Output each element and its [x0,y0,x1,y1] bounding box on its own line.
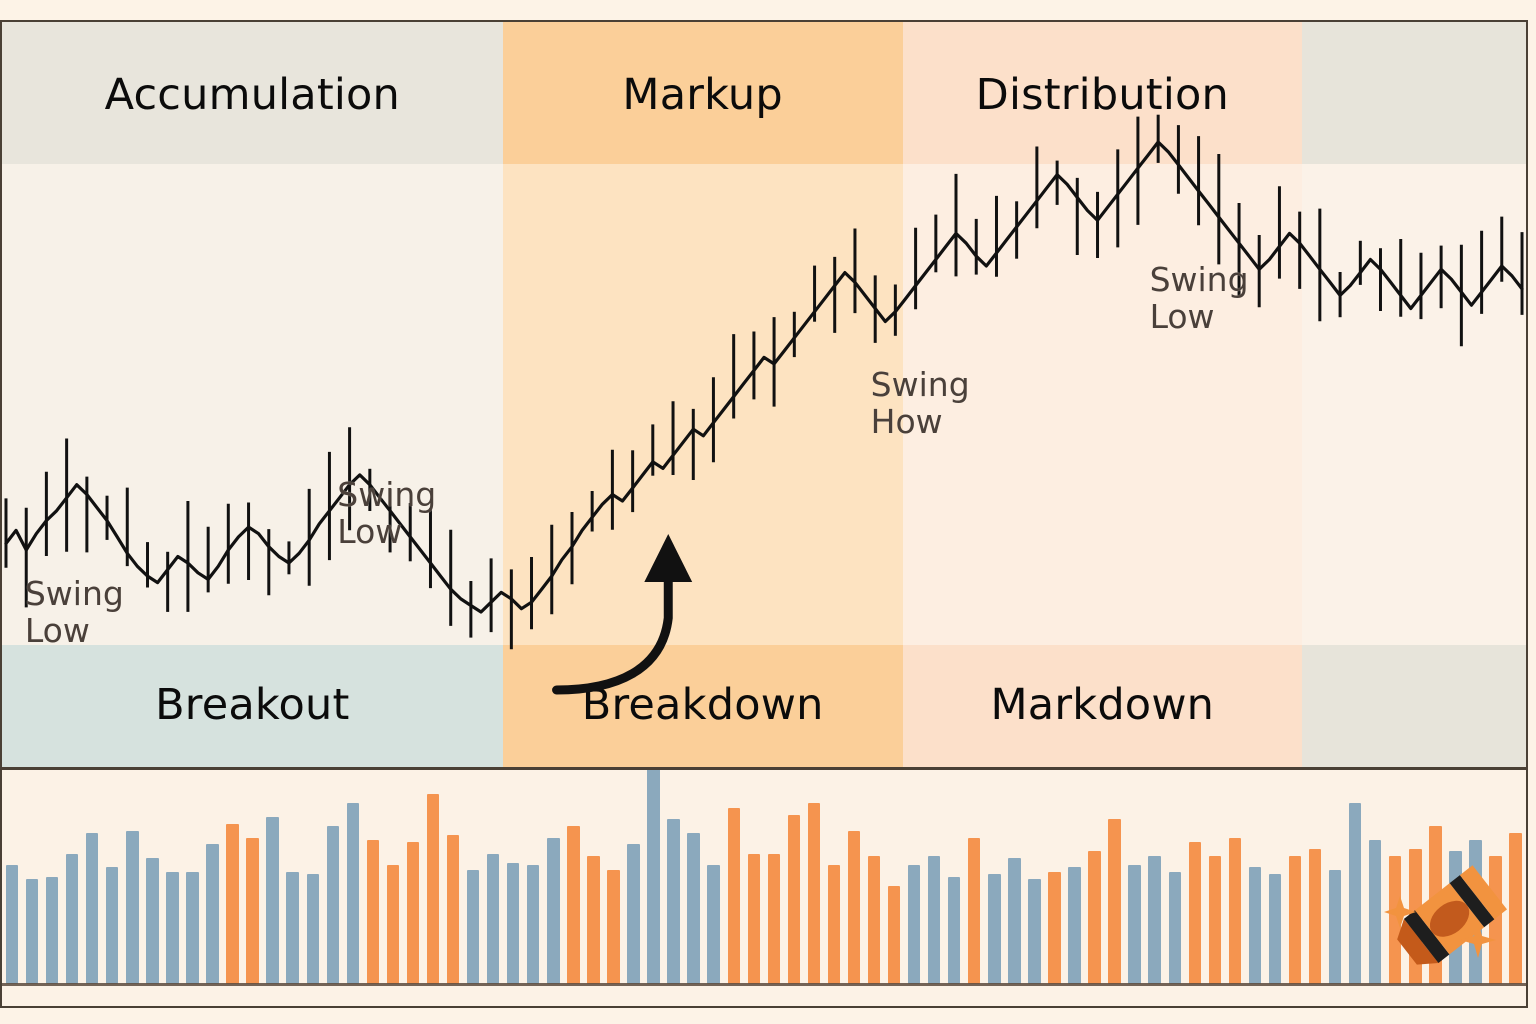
volume-slot [623,770,643,984]
volume-slot [102,770,122,984]
volume-panel [2,770,1526,1006]
volume-bar [367,840,379,984]
volume-slot [1145,770,1165,984]
volume-slot [984,770,1004,984]
volume-bar [908,865,920,984]
volume-bar [46,877,58,985]
volume-bar [146,858,158,984]
volume-bar [948,877,960,985]
volume-bar [266,817,278,984]
phase-top-band: Distribution [903,22,1302,164]
phase-bottom-band: Breakout [2,645,503,767]
phase-top-band: Accumulation [2,22,503,164]
volume-slot [1365,770,1385,984]
volume-slot [263,770,283,984]
swing-low-right: Swing Low [1150,262,1249,336]
volume-slot [1064,770,1084,984]
volume-slot [603,770,623,984]
volume-baseline [2,983,1526,986]
volume-bar [788,815,800,984]
volume-bar [1108,819,1120,984]
volume-slot [122,770,142,984]
volume-slot [1305,770,1325,984]
volume-slot [1445,770,1465,984]
volume-slot [22,770,42,984]
volume-bar [748,854,760,984]
volume-slot [463,770,483,984]
volume-slot [1506,770,1526,984]
volume-slot [1265,770,1285,984]
volume-slot [423,770,443,984]
volume-bar [768,854,780,984]
volume-slot [1245,770,1265,984]
volume-slot [1425,770,1445,984]
volume-bar [186,872,198,984]
phase-bottom-band: Breakdown [503,645,903,767]
volume-bar [487,854,499,984]
volume-slot [704,770,724,984]
volume-bar [1349,803,1361,984]
volume-bar [1148,856,1160,984]
volume-slot [543,770,563,984]
volume-bar [1048,872,1060,984]
volume-slot [323,770,343,984]
phase-bottom-band [1302,645,1526,767]
phase-bottom-label: Breakdown [503,680,903,730]
volume-bar [467,870,479,984]
phase-column: AccumulationBreakout [2,22,503,767]
volume-slot [443,770,463,984]
volume-slot [1325,770,1345,984]
volume-slot [483,770,503,984]
chart-frame: AccumulationBreakoutMarkupBreakdownDistr… [0,20,1528,1008]
volume-slot [804,770,824,984]
phase-mid-band [1302,164,1526,645]
volume-bar [106,867,118,984]
phase-top-label: Distribution [903,70,1302,120]
volume-bar [286,872,298,984]
volume-bar [647,770,659,984]
swing-low-left: Swing Low [25,576,124,650]
volume-bar [627,844,639,984]
volume-slot [1405,770,1425,984]
volume-slot [62,770,82,984]
volume-bar [888,886,900,984]
volume-bar [427,794,439,984]
volume-slot [1044,770,1064,984]
volume-bar [327,826,339,984]
volume-bar [126,831,138,984]
phase-bottom-label: Breakout [2,680,503,730]
volume-slot [1125,770,1145,984]
volume-bar [547,838,559,984]
volume-bar [1449,851,1461,984]
volume-slot [503,770,523,984]
volume-bar [507,863,519,984]
volume-bar [868,856,880,984]
phase-column [1302,22,1526,767]
volume-bar [607,870,619,984]
volume-slot [964,770,984,984]
volume-bar [527,865,539,984]
volume-slot [684,770,704,984]
phase-top-label: Accumulation [2,70,503,120]
volume-bar [1429,826,1441,984]
phase-top-band [1302,22,1526,164]
volume-slot [1465,770,1485,984]
volume-bar [246,838,258,984]
volume-slot [1205,770,1225,984]
volume-bar [928,856,940,984]
volume-slot [202,770,222,984]
swing-high-mid: Swing How [871,367,970,441]
volume-slot [343,770,363,984]
phase-top-band: Markup [503,22,903,164]
volume-slot [403,770,423,984]
volume-slot [1385,770,1405,984]
volume-slot [664,770,684,984]
volume-bar [1329,870,1341,984]
volume-slot [182,770,202,984]
volume-slot [142,770,162,984]
volume-bar [1369,840,1381,984]
chart-screenshot: AccumulationBreakoutMarkupBreakdownDistr… [0,0,1536,1024]
volume-bar [848,831,860,984]
volume-slot [1024,770,1044,984]
volume-slot [904,770,924,984]
volume-bar [808,803,820,984]
phase-top-label: Markup [503,70,903,120]
volume-slot [243,770,263,984]
volume-slot [563,770,583,984]
phase-mid-band [2,164,503,645]
volume-bar [1289,856,1301,984]
volume-slot [1004,770,1024,984]
volume-slot [944,770,964,984]
volume-slot [644,770,664,984]
volume-bar [1489,856,1501,984]
volume-slot [724,770,744,984]
volume-bar [407,842,419,984]
volume-bar [1409,849,1421,984]
volume-bar [828,865,840,984]
volume-bar [6,865,18,984]
volume-slot [383,770,403,984]
volume-bar [1008,858,1020,984]
volume-bar [447,835,459,984]
volume-bar [1249,867,1261,984]
volume-slot [864,770,884,984]
volume-slot [924,770,944,984]
volume-slot [1345,770,1365,984]
volume-bar [347,803,359,984]
volume-bar [1028,879,1040,984]
volume-bar [1068,867,1080,984]
volume-bar [667,819,679,984]
volume-bar [687,833,699,984]
volume-slot [824,770,844,984]
volume-slot [283,770,303,984]
price-panel: AccumulationBreakoutMarkupBreakdownDistr… [2,22,1526,767]
volume-slot [363,770,383,984]
volume-slot [1165,770,1185,984]
volume-bar [166,872,178,984]
volume-bar [1189,842,1201,984]
volume-slot [1105,770,1125,984]
volume-bar [86,833,98,984]
swing-low-mid: Swing Low [337,477,436,551]
volume-slot [162,770,182,984]
volume-slot [42,770,62,984]
volume-slot [1185,770,1205,984]
phase-column: MarkupBreakdown [503,22,903,767]
volume-bar [1309,849,1321,984]
volume-bar [1389,856,1401,984]
volume-bar [307,874,319,984]
volume-bar [1169,872,1181,984]
volume-slot [303,770,323,984]
phase-bottom-band: Markdown [903,645,1302,767]
phase-bottom-label: Markdown [903,680,1302,730]
volume-slot [523,770,543,984]
volume-bar [1509,833,1521,984]
volume-slot [764,770,784,984]
volume-slot [82,770,102,984]
volume-bar [1209,856,1221,984]
volume-bar-series [2,770,1526,984]
volume-bar [26,879,38,984]
volume-bar [988,874,1000,984]
volume-bar [968,838,980,984]
volume-slot [844,770,864,984]
volume-bar [1128,865,1140,984]
volume-slot [744,770,764,984]
volume-bar [66,854,78,984]
volume-slot [1285,770,1305,984]
volume-slot [1085,770,1105,984]
phase-mid-band [503,164,903,645]
volume-bar [587,856,599,984]
volume-bar [1229,838,1241,984]
volume-bar [707,865,719,984]
volume-bar [1088,851,1100,984]
volume-slot [223,770,243,984]
volume-bar [226,824,238,984]
volume-slot [583,770,603,984]
volume-bar [567,826,579,984]
volume-slot [1485,770,1505,984]
volume-bar [206,844,218,984]
volume-slot [2,770,22,984]
volume-bar [1469,840,1481,984]
volume-slot [884,770,904,984]
volume-bar [728,808,740,984]
volume-slot [784,770,804,984]
volume-slot [1225,770,1245,984]
volume-bar [1269,874,1281,984]
volume-bar [387,865,399,984]
